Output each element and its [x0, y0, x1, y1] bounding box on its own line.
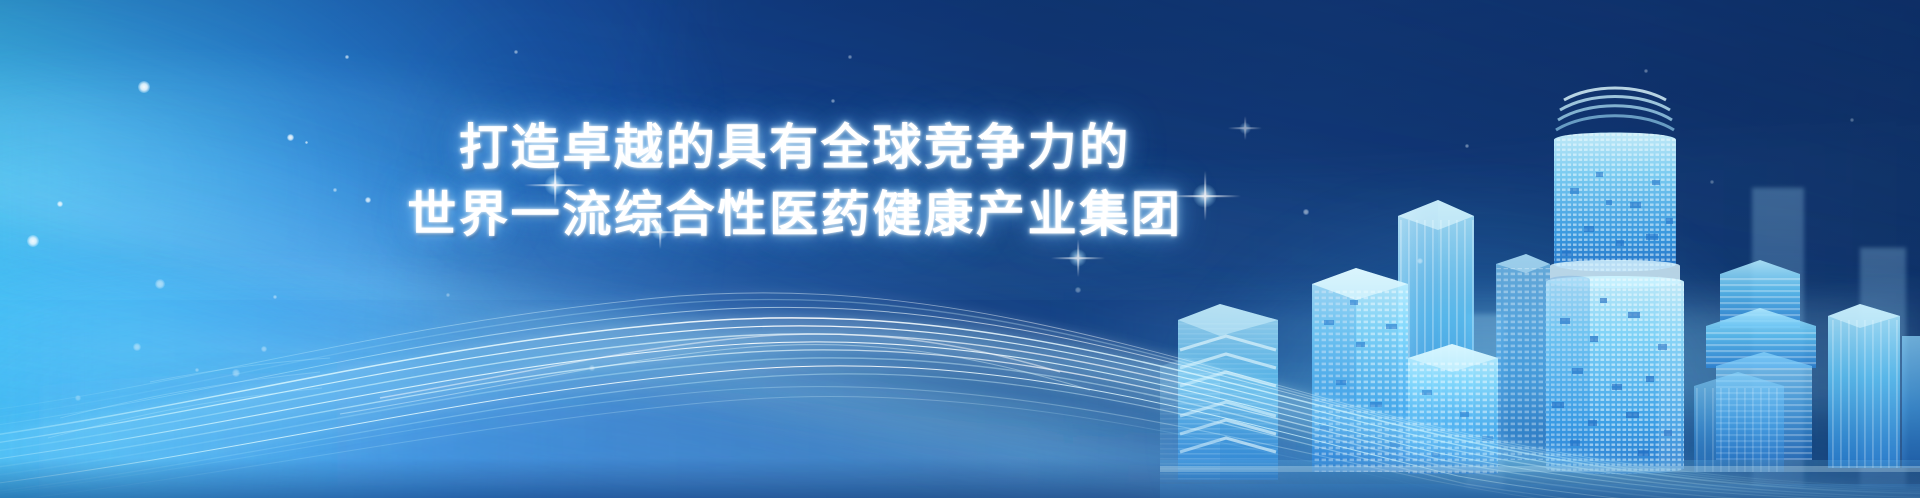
- tower-slim: [1496, 254, 1550, 460]
- light-particle: [1850, 118, 1854, 122]
- light-particle: [75, 395, 81, 401]
- light-particle: [305, 141, 308, 144]
- ground-reflection: [1160, 460, 1920, 498]
- light-particle: [831, 99, 835, 103]
- light-particle: [1303, 209, 1308, 214]
- block-front-right: [1408, 344, 1498, 474]
- light-particle: [446, 293, 450, 297]
- tower-right-edge: [1828, 304, 1920, 468]
- city-skyline: [1160, 68, 1920, 498]
- light-particle: [138, 81, 150, 93]
- light-particle: [287, 134, 294, 141]
- hero-banner: 打造卓越的具有全球竞争力的 世界一流综合性医药健康产业集团: [0, 0, 1920, 498]
- bottom-left-glow: [0, 78, 620, 498]
- light-particle: [333, 188, 336, 191]
- light-particle: [155, 279, 165, 289]
- light-particle: [261, 346, 267, 352]
- light-particle: [1417, 258, 1423, 264]
- light-particle: [848, 55, 851, 58]
- block-mid-right: [1694, 372, 1784, 472]
- light-particle: [27, 235, 39, 247]
- light-particle: [365, 197, 371, 203]
- tower-cylinder-hero: [1546, 88, 1684, 474]
- tower-front-block: [1312, 268, 1408, 472]
- light-particle: [345, 55, 349, 59]
- light-particle: [133, 343, 141, 351]
- light-particle: [589, 365, 594, 370]
- light-particle: [1075, 287, 1081, 293]
- light-particle: [1465, 144, 1469, 148]
